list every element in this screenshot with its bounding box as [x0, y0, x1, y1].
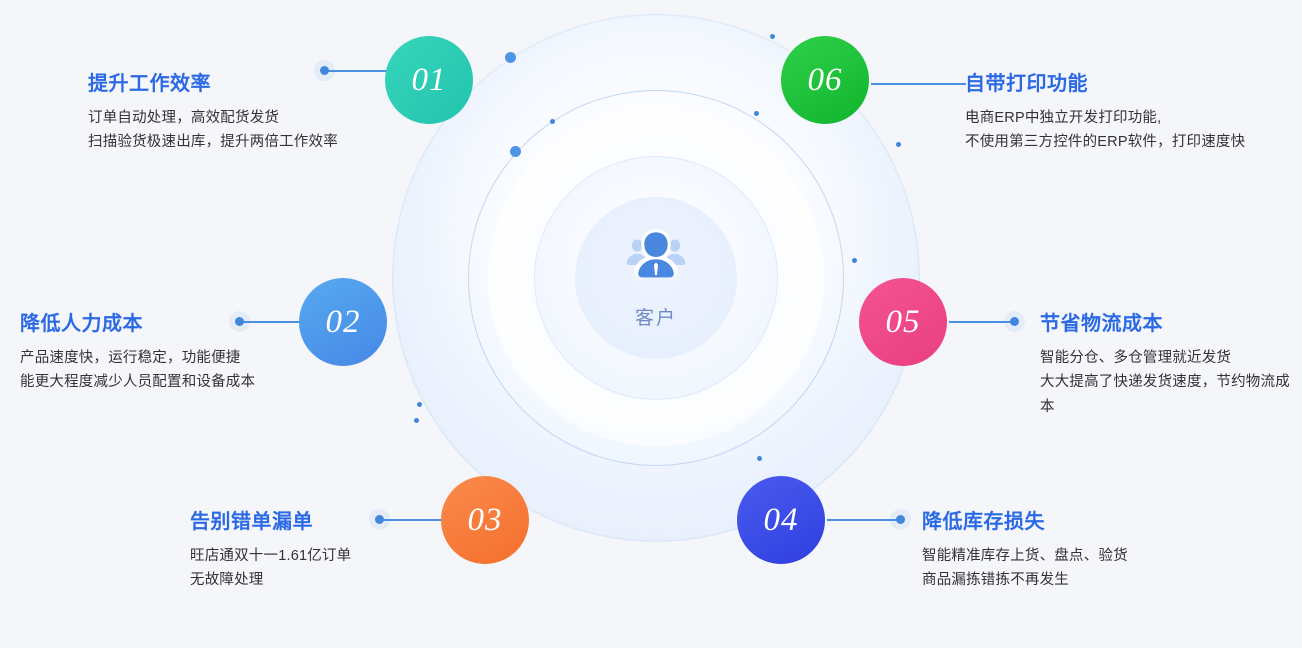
item-05-desc: 智能分仓、多仓管理就近发货 大大提高了快递发货速度，节约物流成本 [1040, 346, 1290, 419]
badge-04-number: 04 [764, 502, 799, 539]
item-03-title: 告别错单漏单 [190, 510, 450, 534]
badge-05-number: 05 [886, 304, 921, 341]
badge-01-number: 01 [412, 62, 447, 99]
connector-dot-03 [375, 515, 384, 524]
infographic-canvas: 客户 01 提升工作效率 订单自动处理，高效配货发货 扫描验货极速出库，提升两倍… [0, 0, 1302, 648]
badge-04[interactable]: 04 [737, 476, 825, 564]
badge-02[interactable]: 02 [299, 278, 387, 366]
badge-06[interactable]: 06 [781, 36, 869, 124]
center-label: 客户 [635, 303, 677, 330]
connector-line-03 [383, 519, 443, 521]
badge-05[interactable]: 05 [859, 278, 947, 366]
item-03-desc: 旺店通双十一1.61亿订单 无故障处理 [190, 544, 450, 593]
connector-dot-02 [235, 317, 244, 326]
item-06-title: 自带打印功能 [965, 72, 1270, 96]
item-03-text: 告别错单漏单 旺店通双十一1.61亿订单 无故障处理 [190, 510, 450, 593]
connector-line-06 [871, 83, 966, 85]
item-01-desc: 订单自动处理，高效配货发货 扫描验货极速出库，提升两倍工作效率 [88, 106, 388, 155]
badge-01[interactable]: 01 [385, 36, 473, 124]
item-05-title: 节省物流成本 [1040, 312, 1290, 336]
item-04-desc: 智能精准库存上货、盘点、验货 商品漏拣错拣不再发生 [922, 544, 1222, 593]
item-04-text: 降低库存损失 智能精准库存上货、盘点、验货 商品漏拣错拣不再发生 [922, 510, 1222, 593]
badge-02-number: 02 [326, 304, 361, 341]
connector-dot-05 [1010, 317, 1019, 326]
item-02-title: 降低人力成本 [20, 312, 310, 336]
badge-03-number: 03 [468, 502, 503, 539]
badge-03[interactable]: 03 [441, 476, 529, 564]
item-01-title: 提升工作效率 [88, 72, 388, 96]
badge-06-number: 06 [808, 62, 843, 99]
item-04-title: 降低库存损失 [922, 510, 1222, 534]
item-01-text: 提升工作效率 订单自动处理，高效配货发货 扫描验货极速出库，提升两倍工作效率 [88, 72, 388, 155]
connector-dot-04 [896, 515, 905, 524]
connector-dot-01 [320, 66, 329, 75]
item-06-desc: 电商ERP中独立开发打印功能, 不使用第三方控件的ERP软件，打印速度快 [965, 106, 1270, 155]
item-06-text: 自带打印功能 电商ERP中独立开发打印功能, 不使用第三方控件的ERP软件，打印… [965, 72, 1270, 155]
customer-group-icon [625, 227, 687, 285]
item-05-text: 节省物流成本 智能分仓、多仓管理就近发货 大大提高了快递发货速度，节约物流成本 [1040, 312, 1290, 419]
item-02-text: 降低人力成本 产品速度快，运行稳定，功能便捷 能更大程度减少人员配置和设备成本 [20, 312, 310, 395]
item-02-desc: 产品速度快，运行稳定，功能便捷 能更大程度减少人员配置和设备成本 [20, 346, 310, 395]
